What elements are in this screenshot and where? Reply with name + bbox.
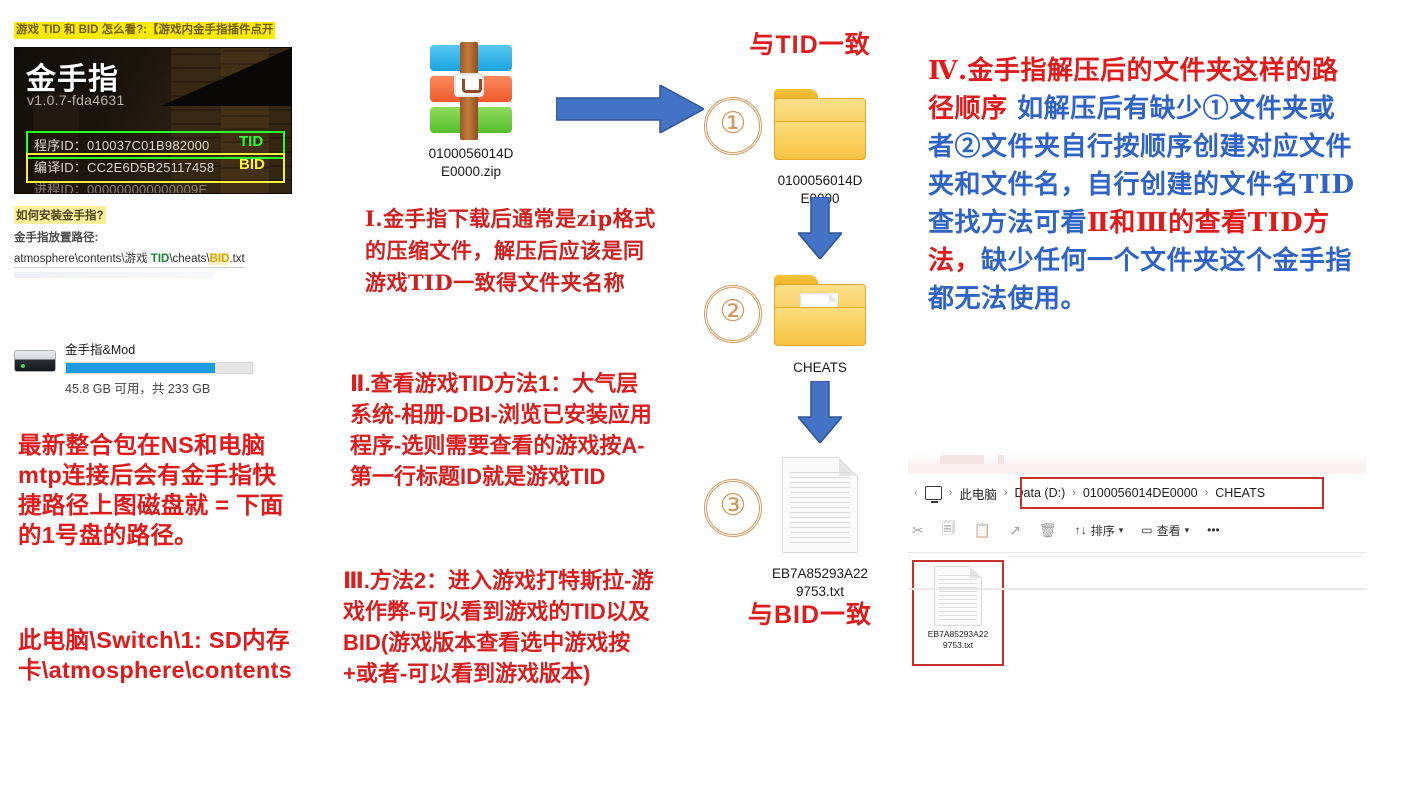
install-question: 如何安装金手指? xyxy=(14,206,106,224)
path-label: 金手指放置路径: xyxy=(14,229,314,245)
cut-icon[interactable]: ✂ xyxy=(912,522,924,539)
step-two-text: Ⅱ.查看游戏TID方法1：大气层系统-相册-DBI-浏览已安装应用程序-选则需要… xyxy=(350,368,660,492)
explorer-tab-ghost-2 xyxy=(998,455,1004,464)
cheat-app-version: v1.0.7-fda4631 xyxy=(27,92,125,108)
view-label: 查看 xyxy=(1157,522,1181,539)
cheat-plugin-screenshot: 金手指 v1.0.7-fda4631 程序ID：010037C01B982000… xyxy=(14,47,292,194)
build-id-row: 编译ID：CC2E6D5B25117458 xyxy=(34,157,214,176)
bid-label: BID xyxy=(239,156,265,173)
back-chevron-icon[interactable]: ‹ xyxy=(914,487,918,499)
sort-button[interactable]: ↑↓ 排序 ▾ xyxy=(1075,522,1124,539)
share-icon[interactable]: ↗ xyxy=(1009,522,1021,539)
chevron-down-icon-sort: ▾ xyxy=(1119,525,1124,536)
step-three-text: Ⅲ.方法2：进入游戏打特斯拉-游戏作弊-可以看到游戏的TID以及BID(游戏版本… xyxy=(343,565,661,689)
breadcrumb-highlight-box xyxy=(1020,477,1324,509)
text-file-icon xyxy=(782,457,858,553)
drive-usage-text: 45.8 GB 可用，共 233 GB xyxy=(65,378,314,397)
drive-usage-widget: 金手指&Mod 45.8 GB 可用，共 233 GB xyxy=(14,336,314,397)
left-note-1: 最新整合包在NS和电脑mtp连接后会有金手指快捷路径上图磁盘就 = 下面的1号盘… xyxy=(18,430,298,550)
drive-capacity-bar xyxy=(65,362,253,374)
explorer-content-divider xyxy=(1008,556,1364,557)
program-id-row: 程序ID：010037C01B982000 xyxy=(34,135,209,154)
drive-capacity-fill xyxy=(66,363,215,373)
view-icon: ▭ xyxy=(1141,523,1152,537)
path-suffix: .txt xyxy=(229,253,244,265)
path-bid-token: BID xyxy=(210,253,230,265)
step-badge-1: ① xyxy=(704,97,762,155)
step-one-text: Ⅰ.金手指下载后通常是zip格式的压缩文件，解压后应该是同游戏TID一致得文件夹… xyxy=(365,203,665,299)
left-note-2: 此电脑\Switch\1: SD内存卡\atmosphere\contents xyxy=(18,625,308,685)
drive-name: 金手指&Mod xyxy=(65,339,314,358)
right-text-blue-2: 缺少任何一个文件夹这个金手指都无法使用。 xyxy=(928,246,1352,314)
chevron-down-icon-view: ▾ xyxy=(1185,525,1190,536)
zip-archive-icon xyxy=(430,45,512,137)
explorer-band-fade xyxy=(908,464,1366,474)
explorer-bottom-edge xyxy=(908,588,1366,590)
view-button[interactable]: ▭ 查看 ▾ xyxy=(1141,522,1189,539)
path-middle: \cheats\ xyxy=(169,253,209,265)
zip-file-caption: 0100056014D E0000.zip xyxy=(410,145,532,181)
delete-icon[interactable]: 🗑 xyxy=(1039,522,1057,539)
breadcrumb-item-this-pc[interactable]: 此电脑 xyxy=(959,484,997,503)
step-badge-3: ③ xyxy=(704,479,762,537)
folder-icon-tid xyxy=(774,89,866,161)
process-id-row: 进程ID：000000000000009E xyxy=(34,179,207,194)
flow-heading-tid: 与TID一致 xyxy=(690,25,930,61)
folder-icon-cheats xyxy=(774,275,866,347)
cheat-path-line: atmosphere\contents\游戏 TID\cheats\BID.tx… xyxy=(14,250,245,268)
arrow-down-icon-2 xyxy=(798,381,842,443)
file-explorer-screenshot: ‹ › 此电脑 › Data (D:) › 0100056014DE0000 ›… xyxy=(908,452,1366,594)
breadcrumb-sep-0: › xyxy=(949,487,953,499)
left-column: 游戏 TID 和 BID 怎么看?:【游戏内金手指插件点开 金手指 v1.0.7… xyxy=(14,22,314,278)
this-pc-icon xyxy=(925,486,942,500)
text-file-icon-small xyxy=(934,566,982,626)
folder-caption-cheats: CHEATS xyxy=(752,359,888,377)
step-badge-2: ② xyxy=(704,285,762,343)
copy-icon[interactable]: 🗐 xyxy=(942,518,956,542)
arrow-right-icon xyxy=(556,85,704,133)
arrow-down-icon-1 xyxy=(798,197,842,259)
path-prefix: atmosphere\contents\游戏 xyxy=(14,253,151,265)
poster-canvas: 游戏 TID 和 BID 怎么看?:【游戏内金手指插件点开 金手指 v1.0.7… xyxy=(0,0,1426,800)
right-instruction-paragraph: Ⅳ.金手指解压后的文件夹这样的路径顺序 如解压后有缺少①文件夹或者②文件夹自行按… xyxy=(928,52,1358,318)
more-options-button[interactable]: ••• xyxy=(1207,523,1220,537)
breadcrumb-sep-1: › xyxy=(1004,487,1008,499)
faded-text-line xyxy=(14,272,214,278)
tid-label: TID xyxy=(239,133,263,150)
explorer-file-name: EB7A85293A22 9753.txt xyxy=(928,629,989,651)
explorer-tab-ghost xyxy=(940,455,984,464)
explorer-divider xyxy=(908,552,1366,553)
page-title-banner: 游戏 TID 和 BID 怎么看?:【游戏内金手指插件点开 xyxy=(14,22,275,39)
sort-icon: ↑↓ xyxy=(1075,523,1087,537)
explorer-file-item[interactable]: EB7A85293A22 9753.txt xyxy=(912,560,1004,666)
sort-label: 排序 xyxy=(1091,522,1115,539)
drive-icon xyxy=(14,350,56,376)
text-file-caption: EB7A85293A22 9753.txt xyxy=(748,565,892,601)
path-tid-token: TID xyxy=(151,253,170,265)
folder-flow-column: 与TID一致 ① 0100056014D E0000 ② CHEATS xyxy=(690,25,930,631)
explorer-toolbar[interactable]: ✂ 🗐 📋 ↗ 🗑 ↑↓ 排序 ▾ ▭ 查看 ▾ ••• xyxy=(908,514,1366,546)
paste-icon[interactable]: 📋 xyxy=(974,522,991,539)
